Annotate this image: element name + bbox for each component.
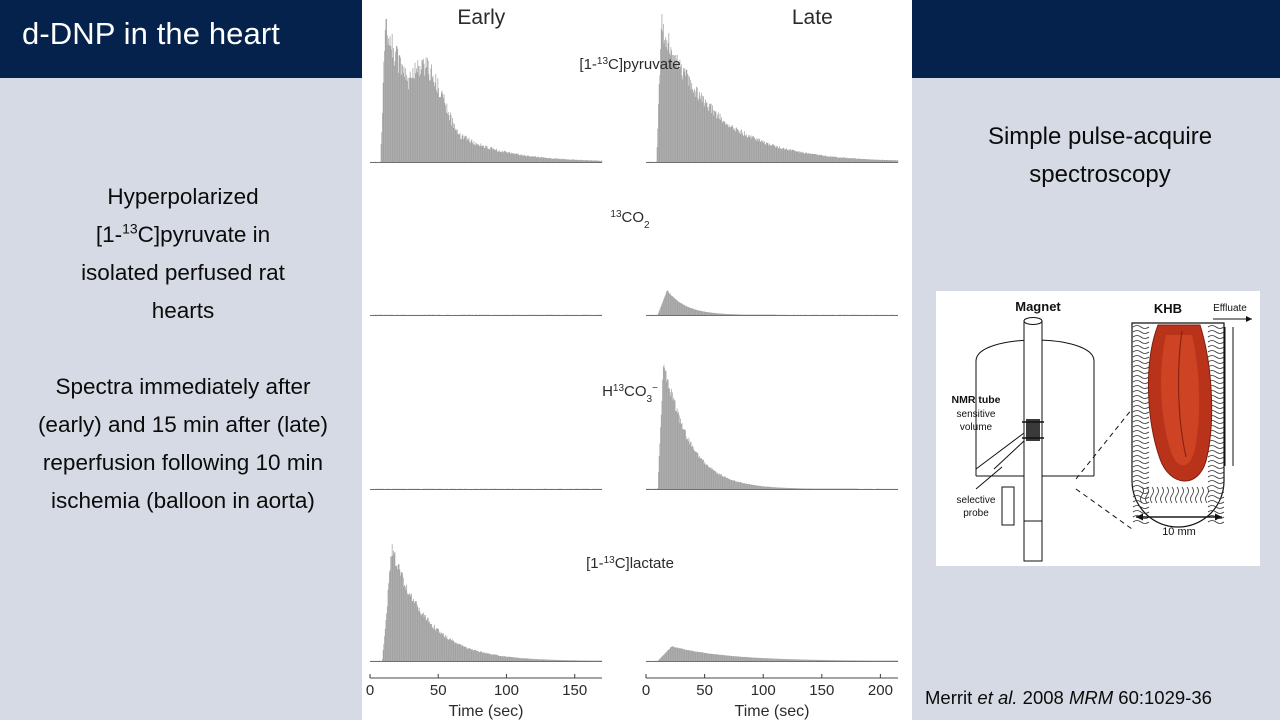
- label-effluate: Effluate: [1213, 303, 1247, 314]
- metabolite-label-lactate: [1-13C]lactate: [586, 555, 674, 573]
- citation-journal: MRM: [1069, 687, 1113, 708]
- label-selective-probe-1: selective: [957, 495, 996, 506]
- description-paragraph-1: Hyperpolarized [1-13C]pyruvate in isolat…: [24, 178, 342, 330]
- citation-author: Merrit: [925, 687, 977, 708]
- spectra-chart: EarlyLate[1-13C]pyruvate13CO2H13CO3−[1-1…: [362, 0, 912, 720]
- x-tick-label: 50: [430, 682, 447, 699]
- label-magnet: Magnet: [1015, 299, 1061, 314]
- label-selective-probe-2: probe: [963, 508, 989, 519]
- x-tick-label: 100: [751, 682, 776, 699]
- carbon13-superscript: 13: [122, 221, 138, 237]
- x-tick-label: 50: [696, 682, 713, 699]
- label-sensitive-volume-2: volume: [960, 422, 993, 433]
- trace-pyruvate-late: [646, 14, 898, 162]
- x-tick-label: 0: [642, 682, 650, 699]
- description-line-3: isolated perfused rat: [81, 260, 285, 285]
- slide-canvas: d-DNP in the heart Hyperpolarized [1-13C…: [0, 0, 1280, 720]
- x-axis-late: 050100150200Time (sec): [642, 674, 898, 720]
- label-scale-bar: 10 mm: [1162, 526, 1196, 538]
- description-line-4: hearts: [152, 298, 215, 323]
- x-tick-label: 200: [868, 682, 893, 699]
- description-line-2-pre: [1-: [96, 222, 122, 247]
- trace-lactate-late: [646, 646, 898, 661]
- panel-header-late: Late: [792, 6, 833, 29]
- x-tick-label: 100: [494, 682, 519, 699]
- label-sensitive-volume-1: sensitive: [957, 409, 996, 420]
- trace-bicarbonate-early: [370, 488, 602, 489]
- description-line-1: Hyperpolarized: [107, 184, 258, 209]
- apparatus-diagram: MagnetNMR tubesensitivevolumeselectivepr…: [936, 291, 1260, 566]
- description-line-2-post: C]pyruvate in: [138, 222, 271, 247]
- left-description-column: Hyperpolarized [1-13C]pyruvate in isolat…: [24, 178, 342, 520]
- citation-pages: 60:1029-36: [1113, 687, 1212, 708]
- label-nmr-tube: NMR tube: [952, 394, 1001, 406]
- citation: Merrit et al. 2008 MRM 60:1029-36: [925, 687, 1212, 709]
- apparatus-diagram-panel: MagnetNMR tubesensitivevolumeselectivepr…: [936, 291, 1260, 566]
- x-axis-early: 050100150Time (sec): [366, 674, 602, 720]
- x-axis-label-late: Time (sec): [735, 703, 810, 720]
- trace-lactate-early: [370, 544, 602, 661]
- metabolite-label-pyruvate: [1-13C]pyruvate: [579, 56, 680, 74]
- x-axis-label-early: Time (sec): [449, 703, 524, 720]
- x-tick-label: 150: [562, 682, 587, 699]
- trace-co2-late: [646, 290, 898, 315]
- spectra-figure-panel: EarlyLate[1-13C]pyruvate13CO2H13CO3−[1-1…: [362, 0, 912, 720]
- page-title: d-DNP in the heart: [22, 17, 362, 51]
- citation-year: 2008: [1018, 687, 1069, 708]
- trace-bicarbonate-late: [646, 365, 898, 490]
- metabolite-label-bicarbonate: H13CO3−: [602, 383, 658, 405]
- trace-co2-early: [370, 314, 602, 315]
- x-tick-label: 0: [366, 682, 374, 699]
- citation-etal: et al.: [977, 687, 1017, 708]
- title-bar-right: [912, 0, 1280, 78]
- paragraph-spacer: [24, 330, 342, 368]
- trace-pyruvate-early: [370, 19, 602, 163]
- description-paragraph-2: Spectra immediately after (early) and 15…: [24, 368, 342, 520]
- right-heading: Simple pulse-acquire spectroscopy: [952, 118, 1248, 194]
- label-khb: KHB: [1154, 301, 1182, 316]
- metabolite-label-co2: 13CO2: [610, 209, 650, 231]
- x-tick-label: 150: [809, 682, 834, 699]
- panel-header-early: Early: [457, 6, 505, 29]
